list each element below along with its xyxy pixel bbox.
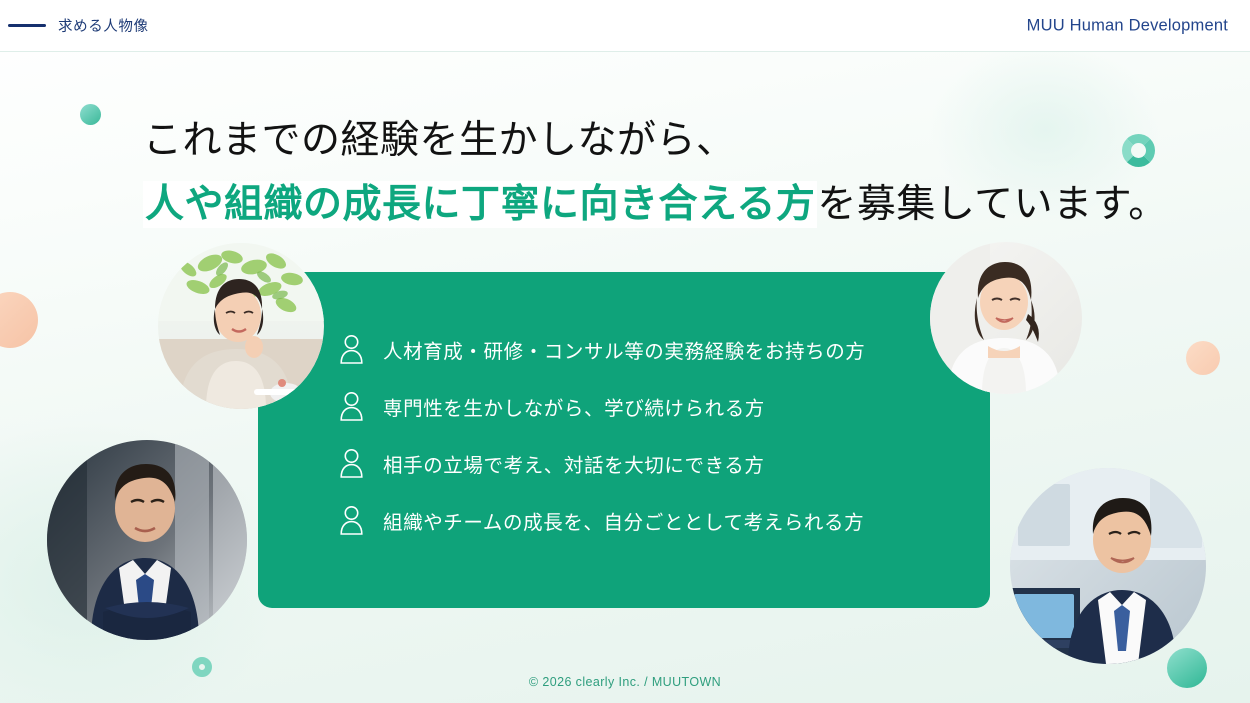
photo-woman-desk-image bbox=[158, 243, 324, 409]
page-title: 求める人物像 bbox=[58, 15, 149, 36]
photo-woman-smiling-image bbox=[930, 242, 1082, 394]
deco-ring-green-bottom-left bbox=[192, 657, 212, 677]
photo-man-suit-image bbox=[47, 440, 247, 640]
person-icon bbox=[338, 334, 365, 364]
footer-copyright: © 2026 clearly Inc. / MUUTOWN bbox=[0, 675, 1250, 689]
list-item-label: 相手の立場で考え、対話を大切にできる方 bbox=[383, 449, 765, 478]
slide-root: 求める人物像 MUU Human Development これまでの経験を生かし… bbox=[0, 0, 1250, 703]
horizontal-rule-icon bbox=[8, 24, 46, 27]
person-icon bbox=[338, 448, 365, 478]
headline-line-2: 人や組織の成長に丁寧に向き合える方を募集しています。 bbox=[143, 176, 1168, 234]
deco-circle-peach-right bbox=[1186, 341, 1220, 375]
deco-circle-peach-left bbox=[0, 292, 38, 348]
list-item: 相手の立場で考え、対話を大切にできる方 bbox=[338, 448, 865, 478]
photo-man-office-image bbox=[1010, 468, 1206, 664]
headline-block: これまでの経験を生かしながら、 人や組織の成長に丁寧に向き合える方を募集していま… bbox=[143, 112, 1168, 234]
list-item: 人材育成・研修・コンサル等の実務経験をお持ちの方 bbox=[338, 334, 865, 364]
page-header: 求める人物像 MUU Human Development bbox=[0, 0, 1250, 52]
headline-tail-text: を募集しています。 bbox=[817, 183, 1167, 226]
list-item: 専門性を生かしながら、学び続けられる方 bbox=[338, 391, 865, 421]
photo-man-office bbox=[1010, 468, 1206, 664]
list-item-label: 専門性を生かしながら、学び続けられる方 bbox=[383, 392, 765, 421]
requirements-card: 人材育成・研修・コンサル等の実務経験をお持ちの方 専門性を生かしながら、学び続け… bbox=[258, 272, 990, 608]
photo-man-suit bbox=[47, 440, 247, 640]
headline-line-1: これまでの経験を生かしながら、 bbox=[143, 112, 1168, 170]
photo-woman-desk bbox=[158, 243, 324, 409]
requirements-list: 人材育成・研修・コンサル等の実務経験をお持ちの方 専門性を生かしながら、学び続け… bbox=[338, 334, 865, 535]
person-icon bbox=[338, 505, 365, 535]
list-item-label: 組織やチームの成長を、自分ごととして考えられる方 bbox=[383, 506, 864, 535]
photo-woman-smiling bbox=[930, 242, 1082, 394]
header-left-group: 求める人物像 bbox=[8, 15, 149, 36]
list-item-label: 人材育成・研修・コンサル等の実務経験をお持ちの方 bbox=[383, 335, 865, 364]
deco-dot-green-top-left bbox=[80, 104, 101, 125]
headline-accent-text: 人や組織の成長に丁寧に向き合える方 bbox=[143, 181, 817, 228]
brand-label: MUU Human Development bbox=[1027, 16, 1228, 35]
person-icon bbox=[338, 391, 365, 421]
list-item: 組織やチームの成長を、自分ごととして考えられる方 bbox=[338, 505, 865, 535]
